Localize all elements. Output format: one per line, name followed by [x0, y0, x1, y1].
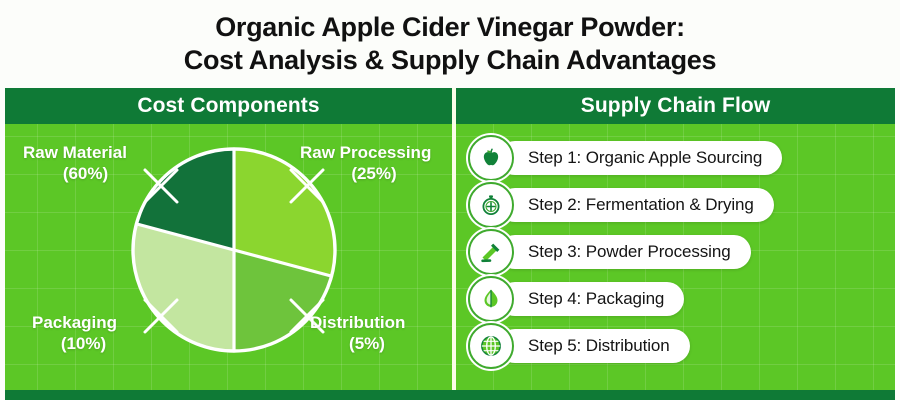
pie-label-distribution-pct: (5%) — [310, 333, 424, 354]
board-bottom-band — [5, 390, 895, 400]
page-title: Organic Apple Cider Vinegar Powder: Cost… — [0, 0, 900, 88]
right-panel-header-text: Supply Chain Flow — [581, 94, 771, 118]
pie-label-raw-material: Raw Material (60%) — [23, 142, 148, 184]
left-panel-header-text: Cost Components — [137, 94, 319, 118]
flow-step-2-label: Step 2: Fermentation & Drying — [528, 195, 754, 215]
infographic-canvas: Organic Apple Cider Vinegar Powder: Cost… — [0, 0, 900, 400]
leaf-package-icon — [468, 276, 514, 322]
flow-step-4-label: Step 4: Packaging — [528, 289, 664, 309]
flow-pill-1[interactable]: Step 1: Organic Apple Sourcing — [498, 141, 782, 175]
pie-label-raw-processing-name: Raw Processing — [300, 143, 431, 162]
pie-label-raw-processing-pct: (25%) — [300, 163, 448, 184]
flow-step-5[interactable]: Step 5: Distribution — [468, 322, 893, 369]
right-panel-header: Supply Chain Flow — [456, 88, 895, 124]
flow-pill-4[interactable]: Step 4: Packaging — [498, 282, 684, 316]
title-line-2: Cost Analysis & Supply Chain Advantages — [184, 44, 716, 77]
stopwatch-icon — [468, 182, 514, 228]
infographic-board: Cost Components Supply Chain Flow — [5, 88, 895, 396]
flow-pill-5[interactable]: Step 5: Distribution — [498, 329, 690, 363]
flow-step-3-label: Step 3: Powder Processing — [528, 242, 731, 262]
grinder-icon — [468, 229, 514, 275]
flow-step-2[interactable]: Step 2: Fermentation & Drying — [468, 181, 893, 228]
apple-icon — [468, 135, 514, 181]
title-line-1: Organic Apple Cider Vinegar Powder: — [215, 11, 685, 44]
cost-components-pie-chart: Raw Material (60%) Raw Processing (25%) … — [5, 124, 452, 396]
pie-label-packaging-pct: (10%) — [32, 333, 135, 354]
flow-step-3[interactable]: Step 3: Powder Processing — [468, 228, 893, 275]
pie-label-raw-material-pct: (60%) — [23, 163, 148, 184]
flow-step-1-label: Step 1: Organic Apple Sourcing — [528, 148, 762, 168]
pie-label-raw-material-name: Raw Material — [23, 143, 127, 162]
flow-step-4[interactable]: Step 4: Packaging — [468, 275, 893, 322]
flow-step-1[interactable]: Step 1: Organic Apple Sourcing — [468, 134, 893, 181]
supply-chain-flow: Step 1: Organic Apple Sourcing — [456, 124, 895, 396]
pie-label-distribution-name: Distribution — [310, 313, 405, 332]
flow-pill-2[interactable]: Step 2: Fermentation & Drying — [498, 188, 774, 222]
flow-pill-3[interactable]: Step 3: Powder Processing — [498, 235, 751, 269]
pie-label-distribution: Distribution (5%) — [310, 312, 424, 354]
left-panel-header: Cost Components — [5, 88, 452, 124]
pie-label-packaging-name: Packaging — [32, 313, 117, 332]
pie-label-raw-processing: Raw Processing (25%) — [300, 142, 448, 184]
flow-step-list: Step 1: Organic Apple Sourcing — [468, 134, 893, 369]
pie-label-packaging: Packaging (10%) — [32, 312, 135, 354]
flow-step-5-label: Step 5: Distribution — [528, 336, 670, 356]
globe-icon — [468, 323, 514, 369]
